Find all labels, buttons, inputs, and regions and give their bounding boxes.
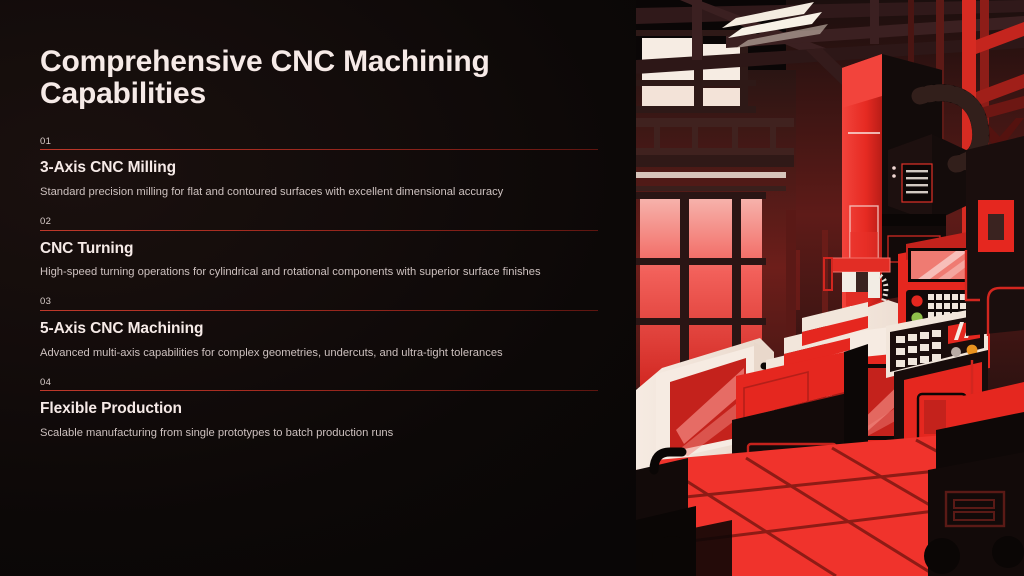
capability-number: 03 xyxy=(40,297,598,307)
capability-divider xyxy=(40,390,598,391)
capability-item-03: 03 5-Axis CNC Machining Advanced multi-a… xyxy=(40,297,598,361)
capability-heading: Flexible Production xyxy=(40,400,598,418)
mezzanine-light-strip xyxy=(636,172,786,178)
capability-number: 02 xyxy=(40,217,598,227)
capability-heading: 5-Axis CNC Machining xyxy=(40,320,598,338)
capability-item-02: 02 CNC Turning High-speed turning operat… xyxy=(40,217,598,281)
capability-divider xyxy=(40,149,598,150)
capability-description: Advanced multi-axis capabilities for com… xyxy=(40,345,574,362)
capability-heading: 3-Axis CNC Milling xyxy=(40,159,598,177)
capability-description: High-speed turning operations for cylind… xyxy=(40,264,574,281)
page-title: Comprehensive CNC Machining Capabilities xyxy=(40,46,560,111)
capability-divider xyxy=(40,230,598,231)
mezzanine-beam xyxy=(636,186,786,191)
capability-item-04: 04 Flexible Production Scalable manufact… xyxy=(40,378,598,442)
foreground-left-block xyxy=(636,452,696,576)
capability-description: Scalable manufacturing from single proto… xyxy=(40,425,574,442)
capability-heading: CNC Turning xyxy=(40,240,598,258)
content-panel: Comprehensive CNC Machining Capabilities… xyxy=(0,0,636,576)
capability-item-01: 01 3-Axis CNC Milling Standard precision… xyxy=(40,137,598,201)
slide-root: Comprehensive CNC Machining Capabilities… xyxy=(0,0,1024,576)
illustration-panel xyxy=(636,0,1024,576)
capability-number: 01 xyxy=(40,137,598,147)
capability-list: 01 3-Axis CNC Milling Standard precision… xyxy=(40,137,598,442)
capability-divider xyxy=(40,310,598,311)
cnc-machine-shop-illustration xyxy=(636,0,1024,576)
capability-number: 04 xyxy=(40,378,598,388)
capability-description: Standard precision milling for flat and … xyxy=(40,184,574,201)
